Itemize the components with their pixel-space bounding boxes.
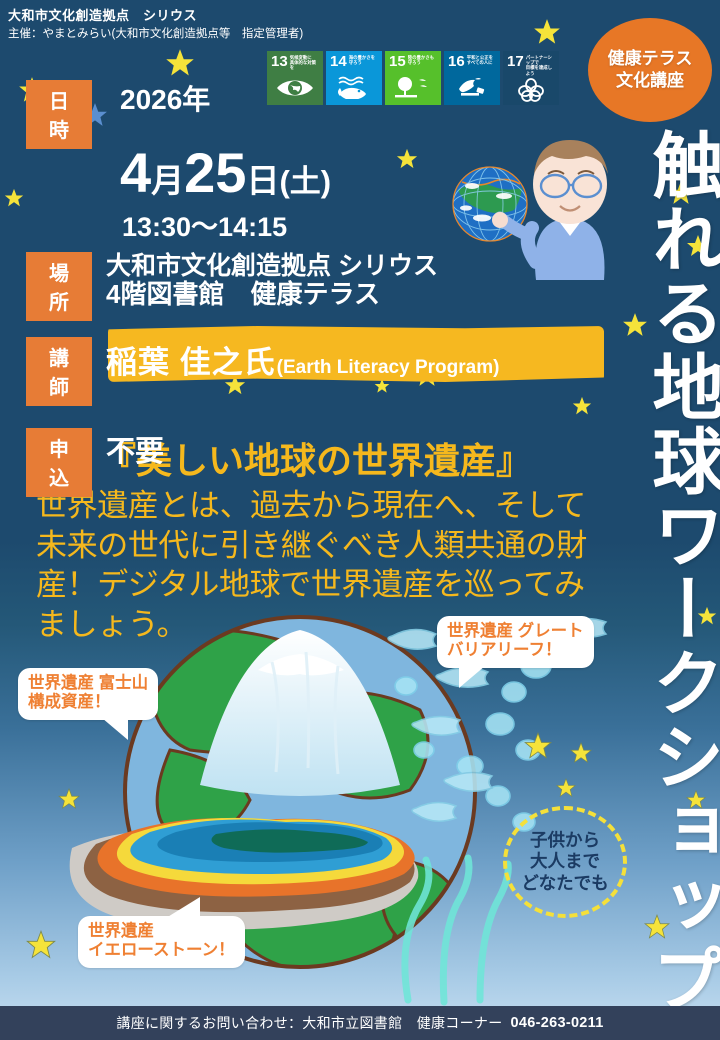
star-decoration	[556, 778, 576, 798]
sdg-number: 14	[330, 54, 347, 69]
yellowstone-hotspring	[70, 818, 419, 930]
lecturer-row: 講師 稲葉 佳之氏 (Earth Literacy Program)	[26, 337, 606, 406]
sdg-caption: パートナーシップで目標を達成しよう	[526, 54, 555, 76]
callout-tail	[102, 718, 128, 740]
interlocking-circles-icon	[507, 76, 555, 105]
organizer-header: 大和市文化創造拠点 シリウス 主催：やまとみらい(大和市文化創造拠点等 指定管理…	[8, 5, 303, 41]
event-time: 13:30〜14:15	[122, 205, 606, 244]
date-month-number: 4	[120, 145, 151, 201]
description-body: 世界遺産とは、過去から現在へ、そして未来の世代に引き継ぐべき人類共通の財産！デジ…	[36, 486, 596, 645]
lecturer-affiliation: (Earth Literacy Program)	[277, 357, 500, 379]
place-value: 大和市文化創造拠点 シリウス 4階図書館 健康テラス	[106, 252, 438, 310]
date-day-number: 25	[184, 145, 246, 201]
organizer-name: 大和市文化創造拠点 シリウス	[8, 5, 303, 24]
sdg-item-14: 14 海の豊かさを守ろう	[326, 51, 382, 105]
star-decoration	[26, 930, 56, 960]
sdg-caption: 陸の豊かさも守ろう	[408, 54, 434, 65]
callout-fuji-line1: 世界遺産 富士山	[28, 674, 148, 693]
sdg-caption: 気候変動に具体的な対策を	[290, 54, 319, 71]
star-decoration	[58, 788, 80, 810]
label-place: 場所	[26, 252, 92, 321]
sdg-item-17: 17 パートナーシップで目標を達成しよう	[503, 51, 559, 105]
date-day-unit: 日	[246, 164, 279, 197]
date-month-unit: 月	[151, 164, 184, 197]
sdg-caption: 海の豊かさを守ろう	[349, 54, 375, 65]
star-decoration	[524, 732, 552, 760]
status-badge: 健康テラス 文化講座	[588, 18, 712, 122]
sdg-caption: 平和と公正をすべての人に	[467, 54, 493, 65]
star-decoration	[4, 188, 24, 208]
callout-tail	[459, 666, 485, 688]
sdg-number: 13	[271, 54, 288, 69]
callout-fuji: 世界遺産 富士山 構成資産！	[18, 668, 158, 720]
callout-fuji-line2: 構成資産！	[28, 693, 148, 712]
sdg-number: 15	[389, 54, 406, 69]
sdg-number: 17	[507, 54, 524, 69]
page-title: 触れる地球ワークショップ	[612, 128, 716, 1016]
sdg-number: 16	[448, 54, 465, 69]
star-decoration	[533, 18, 561, 46]
star-decoration	[570, 742, 592, 764]
badge-line2: 文化講座	[616, 70, 684, 92]
callout-tail	[166, 897, 200, 918]
audience-line2: 大人まで	[530, 851, 600, 872]
sdg-item-15: 15 陸の豊かさも守ろう	[385, 51, 441, 105]
audience-line1: 子供から	[530, 830, 600, 851]
eye-earth-icon	[271, 71, 319, 105]
place-line1: 大和市文化創造拠点 シリウス	[106, 252, 438, 280]
star-decoration	[165, 48, 195, 78]
dove-gavel-icon	[448, 69, 496, 105]
lecturer-name: 稲葉 佳之氏	[106, 337, 276, 382]
sdg-icon-strip: 13 気候変動に具体的な対策を 14 海の豊かさを守ろう	[267, 51, 559, 105]
callout-audience: 子供から 大人まで どなたでも	[503, 806, 627, 918]
callout-yellowstone: 世界遺産 イエローストーン！	[78, 916, 245, 968]
footer-contact: 講座に関するお問い合わせ：大和市立図書館 健康コーナー 046-263-0211	[0, 1006, 720, 1040]
tree-bird-icon	[389, 69, 437, 105]
event-date: 4 月 25 日 (土)	[120, 145, 606, 201]
event-details: 2026年 日時 4 月 25 日 (土) 13:30〜14:15 場所 大和市…	[26, 78, 606, 497]
badge-line1: 健康テラス	[608, 48, 693, 70]
fish-wave-icon	[330, 69, 378, 105]
organizer-sub: 主催：やまとみらい(大和市文化創造拠点等 指定管理者)	[8, 25, 303, 41]
label-date: 日時	[26, 80, 92, 149]
application-row: 申込 不要	[26, 428, 606, 497]
date-weekday: (土)	[279, 166, 331, 197]
place-row: 場所 大和市文化創造拠点 シリウス 4階図書館 健康テラス	[26, 252, 606, 321]
sdg-item-16: 16 平和と公正をすべての人に	[444, 51, 500, 105]
footer-phone: 046-263-0211	[511, 1015, 604, 1031]
label-lecturer: 講師	[26, 337, 92, 406]
label-application: 申込	[26, 428, 92, 497]
callout-yellowstone-line1: 世界遺産	[88, 922, 235, 941]
sdg-item-13: 13 気候変動に具体的な対策を	[267, 51, 323, 105]
poster-canvas: 大和市文化創造拠点 シリウス 主催：やまとみらい(大和市文化創造拠点等 指定管理…	[0, 0, 720, 1040]
audience-line3: どなたでも	[521, 873, 608, 894]
application-value: 不要	[106, 428, 164, 470]
footer-text: 講座に関するお問い合わせ：大和市立図書館 健康コーナー	[116, 1013, 502, 1033]
place-line2: 4階図書館 健康テラス	[106, 279, 380, 309]
lecturer-value: 稲葉 佳之氏 (Earth Literacy Program)	[106, 337, 499, 382]
callout-yellowstone-line2: イエローストーン！	[88, 941, 235, 960]
